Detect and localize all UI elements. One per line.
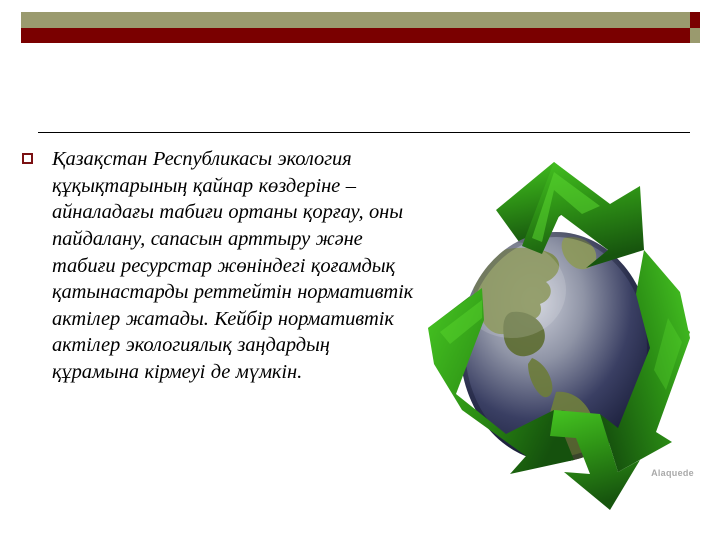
header-bar-top-left-segment xyxy=(21,12,690,28)
square-bullet-icon xyxy=(22,153,33,164)
header-bar-top-right-segment xyxy=(690,12,700,28)
header-bar-top xyxy=(21,12,700,28)
header-bar-bottom-left-segment xyxy=(21,28,690,44)
header-decor-bars xyxy=(21,12,700,43)
bullet-item-text: Қазақстан Республикасы экология құқықтар… xyxy=(52,146,422,386)
content-divider-rule xyxy=(38,132,690,133)
bullet-list-item: Қазақстан Республикасы экология құқықтар… xyxy=(22,146,422,386)
image-watermark: Alaquede xyxy=(651,468,694,478)
recycling-globe-image: Alaquede xyxy=(404,142,716,510)
slide-canvas: Қазақстан Республикасы экология құқықтар… xyxy=(0,0,720,540)
header-bar-bottom-right-segment xyxy=(690,28,700,44)
content-body: Қазақстан Республикасы экология құқықтар… xyxy=(22,146,422,386)
header-bar-bottom xyxy=(21,28,700,44)
recycling-globe-svg xyxy=(404,142,716,510)
